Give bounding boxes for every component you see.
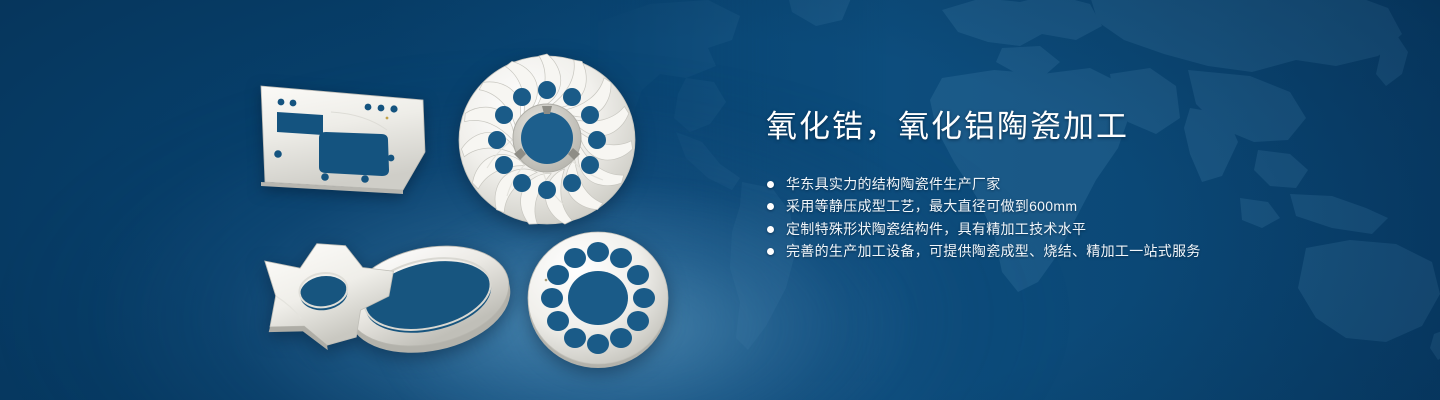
product-photo-cluster: [0, 0, 740, 400]
machined-ceramic-plate: [255, 82, 430, 197]
feature-bullet-item: 定制特殊形状陶瓷结构件，具有精加工技术水平: [764, 218, 1384, 240]
feature-bullet-item: 采用等静压成型工艺，最大直径可做到600mm: [764, 195, 1384, 217]
bullet-dot-icon: [767, 181, 774, 188]
bullet-dot-icon: [767, 226, 774, 233]
bullet-dot-icon: [767, 203, 774, 210]
feature-bullet-text: 华东具实力的结构陶瓷件生产厂家: [786, 176, 1001, 192]
feature-bullet-item: 完善的生产加工设备，可提供陶瓷成型、烧结、精加工一站式服务: [764, 240, 1384, 262]
ceramic-perforated-valve-disc: [522, 228, 674, 368]
feature-bullet-text: 完善的生产加工设备，可提供陶瓷成型、烧结、精加工一站式服务: [786, 243, 1201, 259]
feature-bullet-item: 华东具实力的结构陶瓷件生产厂家: [764, 173, 1384, 195]
banner-headline: 氧化锆，氧化铝陶瓷加工: [766, 108, 1384, 147]
hero-banner: 氧化锆，氧化铝陶瓷加工 华东具实力的结构陶瓷件生产厂家 采用等静压成型工艺，最大…: [0, 0, 1440, 400]
feature-bullet-text: 采用等静压成型工艺，最大直径可做到600mm: [786, 198, 1077, 214]
ceramic-cross-plate-and-ring: [250, 222, 530, 367]
bullet-dot-icon: [767, 248, 774, 255]
ceramic-vaned-impeller: [452, 48, 642, 233]
banner-copy-block: 氧化锆，氧化铝陶瓷加工 华东具实力的结构陶瓷件生产厂家 采用等静压成型工艺，最大…: [764, 108, 1384, 263]
feature-bullet-text: 定制特殊形状陶瓷结构件，具有精加工技术水平: [786, 221, 1086, 237]
feature-bullet-list: 华东具实力的结构陶瓷件生产厂家 采用等静压成型工艺，最大直径可做到600mm 定…: [764, 173, 1384, 263]
